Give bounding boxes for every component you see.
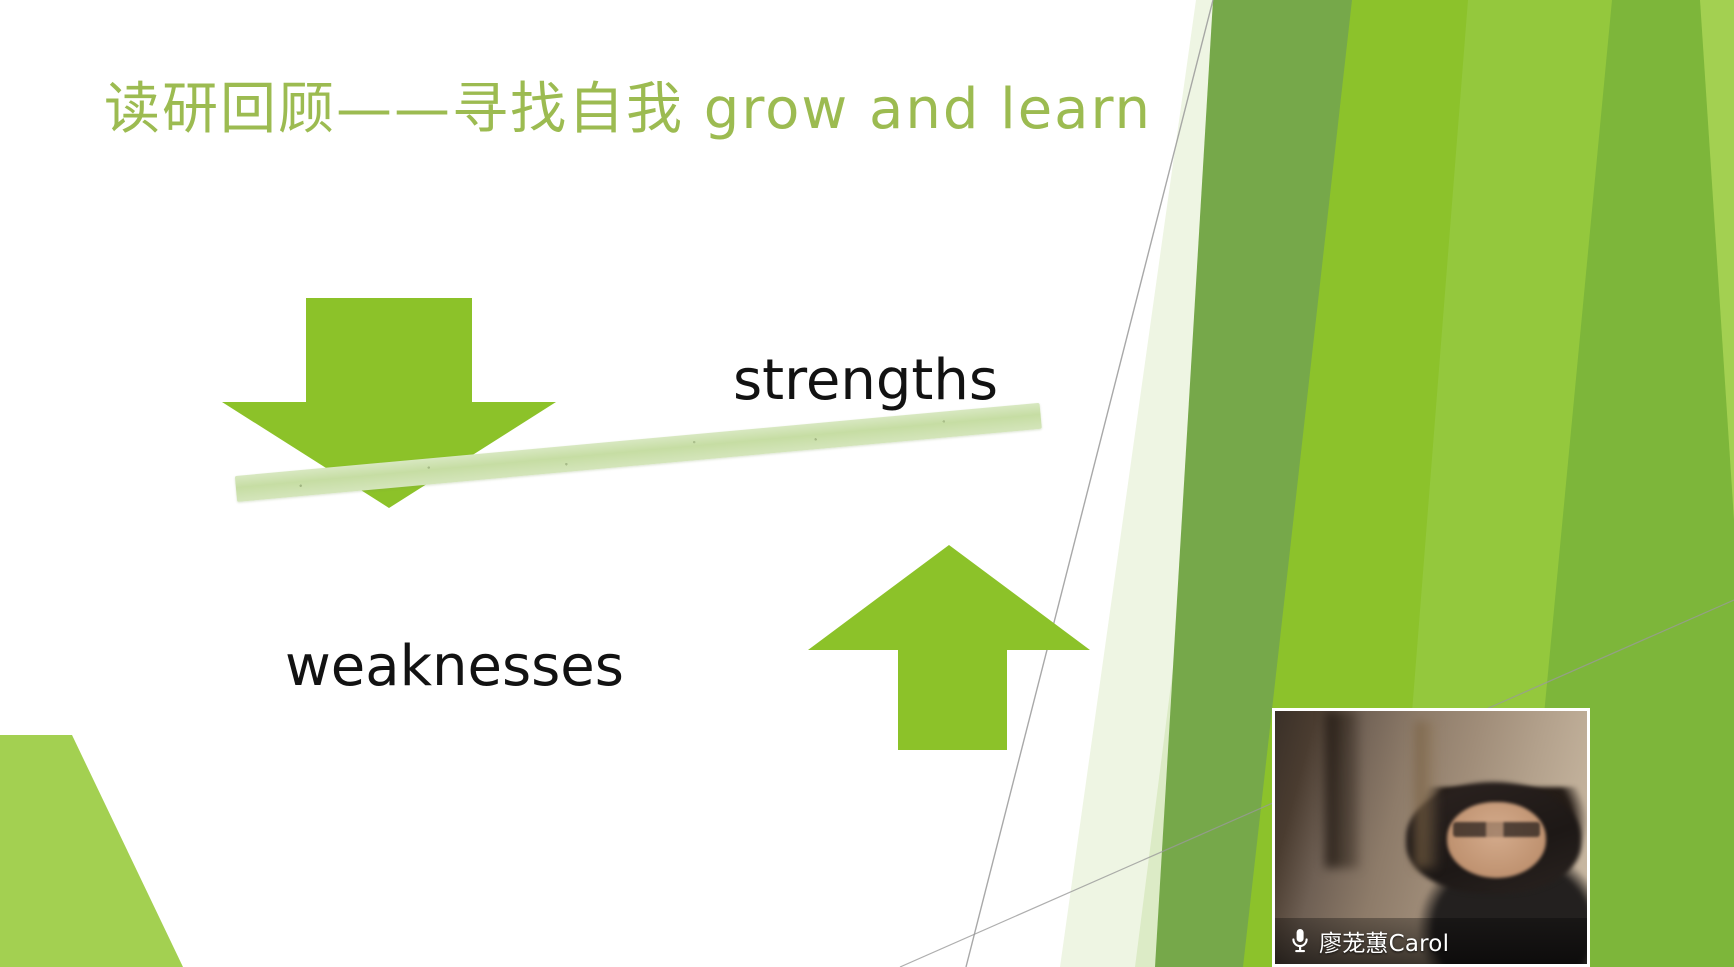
- page-title: 读研回顾——寻找自我 grow and learn: [104, 80, 1152, 140]
- presentation-screen-share: 读研回顾——寻找自我 grow and learn strengths weak…: [0, 0, 1734, 967]
- deco-shape-bottom-left: [0, 735, 183, 967]
- participant-name-label: 廖茏蕙Carol: [1319, 924, 1449, 958]
- participant-name-bar: 廖茏蕙Carol: [1275, 918, 1587, 964]
- label-strengths: strengths: [733, 348, 998, 413]
- participant-glasses: [1453, 822, 1540, 837]
- participant-face: [1447, 802, 1547, 878]
- label-weaknesses: weaknesses: [285, 634, 624, 699]
- self-view-video-tile[interactable]: 廖茏蕙Carol: [1272, 708, 1590, 967]
- up-arrow-icon: [808, 545, 1090, 750]
- deco-hairline-upper: [966, 0, 1213, 967]
- deco-shape-right-tip: [1700, 0, 1734, 520]
- microphone-icon[interactable]: [1289, 927, 1311, 955]
